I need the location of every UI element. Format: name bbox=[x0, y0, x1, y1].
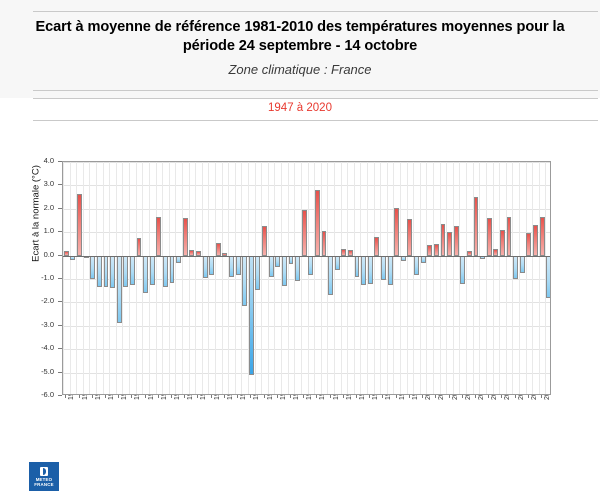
temperature-anomaly-chart: Ecart à la normale (°C) 4.03.02.01.00.0-… bbox=[0, 130, 600, 450]
bar-1972 bbox=[229, 256, 234, 277]
bar-1962 bbox=[163, 256, 168, 288]
bar-1964 bbox=[176, 256, 181, 263]
gridline-vertical bbox=[446, 162, 447, 394]
x-axis-tick-mark bbox=[211, 395, 212, 398]
bar-1958 bbox=[137, 238, 142, 256]
gridline-vertical bbox=[321, 162, 322, 394]
y-axis-tick-label: -5.0 bbox=[28, 368, 54, 376]
gridline-vertical bbox=[208, 162, 209, 394]
page-title: Ecart à moyenne de référence 1981-2010 d… bbox=[30, 18, 570, 56]
logo-text-line2: FRANCE bbox=[34, 482, 54, 487]
meteo-france-logo-icon bbox=[40, 467, 48, 476]
bar-1973 bbox=[236, 256, 241, 276]
gridline-vertical bbox=[156, 162, 157, 394]
bar-2006 bbox=[454, 226, 459, 255]
bar-1955 bbox=[117, 256, 122, 324]
y-axis-tick-label: -2.0 bbox=[28, 297, 54, 305]
bar-1961 bbox=[156, 217, 161, 256]
gridline-vertical bbox=[420, 162, 421, 394]
gridline-vertical bbox=[222, 162, 223, 394]
gridline-vertical bbox=[136, 162, 137, 394]
gridline-vertical bbox=[83, 162, 84, 394]
y-axis-tick-label: 2.0 bbox=[28, 204, 54, 212]
bar-1959 bbox=[143, 256, 148, 293]
header-block: Ecart à moyenne de référence 1981-2010 d… bbox=[0, 0, 600, 98]
gridline-vertical bbox=[215, 162, 216, 394]
bar-1983 bbox=[302, 210, 307, 256]
bar-2005 bbox=[447, 232, 452, 255]
x-axis-tick-mark bbox=[343, 395, 344, 398]
bar-1981 bbox=[289, 256, 294, 264]
x-axis-tick-mark bbox=[396, 395, 397, 398]
bar-2001 bbox=[421, 256, 426, 263]
x-axis-tick-mark bbox=[158, 395, 159, 398]
gridline-vertical bbox=[228, 162, 229, 394]
x-axis-tick-mark bbox=[330, 395, 331, 398]
bar-2003 bbox=[434, 244, 439, 256]
bar-1989 bbox=[341, 249, 346, 256]
x-axis-tick-mark bbox=[250, 395, 251, 398]
gridline-vertical bbox=[453, 162, 454, 394]
page-subtitle: Zone climatique : France bbox=[30, 62, 570, 77]
period-divider-bottom bbox=[33, 120, 598, 121]
x-axis-tick-mark bbox=[131, 395, 132, 398]
period-divider-top bbox=[33, 98, 598, 99]
gridline-vertical bbox=[308, 162, 309, 394]
bar-2009 bbox=[474, 197, 479, 256]
gridline-vertical bbox=[274, 162, 275, 394]
gridline-vertical bbox=[195, 162, 196, 394]
x-axis-tick-mark bbox=[409, 395, 410, 398]
meteo-france-logo: METEO FRANCE bbox=[29, 462, 59, 491]
gridline-vertical bbox=[532, 162, 533, 394]
x-axis-tick-mark bbox=[475, 395, 476, 398]
bar-1984 bbox=[308, 256, 313, 276]
y-axis-tick-label: -6.0 bbox=[28, 391, 54, 399]
bar-1949 bbox=[77, 194, 82, 256]
bar-1965 bbox=[183, 218, 188, 255]
gridline-vertical bbox=[493, 162, 494, 394]
gridline-vertical bbox=[466, 162, 467, 394]
gridline-vertical bbox=[70, 162, 71, 394]
bar-1986 bbox=[322, 231, 327, 256]
x-axis-tick-mark bbox=[65, 395, 66, 398]
bar-1952 bbox=[97, 256, 102, 288]
bar-1997 bbox=[394, 208, 399, 256]
gridline-vertical bbox=[433, 162, 434, 394]
gridline-vertical bbox=[486, 162, 487, 394]
bar-2011 bbox=[487, 218, 492, 255]
x-axis-tick-mark bbox=[369, 395, 370, 398]
gridline-vertical bbox=[440, 162, 441, 394]
gridline-vertical bbox=[519, 162, 520, 394]
gridline-vertical bbox=[426, 162, 427, 394]
bar-1988 bbox=[335, 256, 340, 270]
bar-1991 bbox=[355, 256, 360, 277]
x-axis-tick-mark bbox=[515, 395, 516, 398]
x-axis-tick-mark bbox=[435, 395, 436, 398]
bar-2012 bbox=[493, 249, 498, 256]
x-axis-tick-mark bbox=[541, 395, 542, 398]
bar-1977 bbox=[262, 226, 267, 255]
bar-1980 bbox=[282, 256, 287, 286]
plot-area bbox=[62, 161, 551, 395]
gridline-vertical bbox=[202, 162, 203, 394]
x-axis-tick-mark bbox=[105, 395, 106, 398]
x-axis-tick-mark bbox=[382, 395, 383, 398]
y-axis-tick-mark bbox=[58, 395, 62, 396]
gridline-vertical bbox=[268, 162, 269, 394]
x-axis-tick-mark bbox=[462, 395, 463, 398]
bar-1953 bbox=[104, 256, 109, 288]
x-axis-tick-mark bbox=[422, 395, 423, 398]
gridline-vertical bbox=[354, 162, 355, 394]
x-axis-tick-mark bbox=[277, 395, 278, 398]
gridline-vertical bbox=[334, 162, 335, 394]
bar-1970 bbox=[216, 243, 221, 256]
bar-2018 bbox=[533, 225, 538, 255]
period-range-label: 1947 à 2020 bbox=[0, 102, 600, 114]
bar-1974 bbox=[242, 256, 247, 306]
x-axis-tick-mark bbox=[224, 395, 225, 398]
y-axis-tick-label: -4.0 bbox=[28, 344, 54, 352]
x-axis-tick-mark bbox=[145, 395, 146, 398]
x-axis-tick-mark bbox=[79, 395, 80, 398]
x-axis-tick-mark bbox=[118, 395, 119, 398]
gridline-vertical bbox=[506, 162, 507, 394]
gridline-vertical bbox=[374, 162, 375, 394]
x-axis-tick-mark bbox=[184, 395, 185, 398]
bar-2000 bbox=[414, 256, 419, 276]
y-axis-tick-label: 4.0 bbox=[28, 157, 54, 165]
gridline-vertical bbox=[189, 162, 190, 394]
x-axis-tick-mark bbox=[264, 395, 265, 398]
gridline-vertical bbox=[235, 162, 236, 394]
bar-2004 bbox=[441, 224, 446, 256]
header-divider-top bbox=[33, 11, 598, 12]
gridline-vertical bbox=[539, 162, 540, 394]
bar-2015 bbox=[513, 256, 518, 279]
x-axis-tick-mark bbox=[290, 395, 291, 398]
x-axis-tick-mark bbox=[356, 395, 357, 398]
bar-1968 bbox=[203, 256, 208, 278]
gridline-vertical bbox=[479, 162, 480, 394]
bar-1957 bbox=[130, 256, 135, 285]
y-axis-tick-label: 3.0 bbox=[28, 180, 54, 188]
x-axis-tick-mark bbox=[92, 395, 93, 398]
bar-1960 bbox=[150, 256, 155, 285]
x-axis-tick-mark bbox=[303, 395, 304, 398]
x-axis-tick-mark bbox=[449, 395, 450, 398]
bar-2002 bbox=[427, 245, 432, 256]
bar-1956 bbox=[123, 256, 128, 288]
x-axis-tick-mark bbox=[237, 395, 238, 398]
bar-1951 bbox=[90, 256, 95, 279]
zero-reference-line bbox=[63, 256, 550, 257]
y-axis-tick-label: -3.0 bbox=[28, 321, 54, 329]
bar-1993 bbox=[368, 256, 373, 284]
y-axis-tick-label: -1.0 bbox=[28, 274, 54, 282]
x-axis-tick-mark bbox=[488, 395, 489, 398]
y-axis-tick-label: 1.0 bbox=[28, 227, 54, 235]
bar-1994 bbox=[374, 237, 379, 256]
bar-1969 bbox=[209, 256, 214, 276]
period-band: 1947 à 2020 bbox=[0, 98, 600, 123]
bar-1996 bbox=[388, 256, 393, 285]
gridline-vertical bbox=[261, 162, 262, 394]
bar-2014 bbox=[507, 217, 512, 256]
x-axis-tick-mark bbox=[501, 395, 502, 398]
x-axis-tick-mark bbox=[316, 395, 317, 398]
gridline-vertical bbox=[182, 162, 183, 394]
gridline-vertical bbox=[341, 162, 342, 394]
bar-2007 bbox=[460, 256, 465, 284]
bar-1992 bbox=[361, 256, 366, 285]
gridline-vertical bbox=[400, 162, 401, 394]
bar-2017 bbox=[526, 233, 531, 255]
bar-1987 bbox=[328, 256, 333, 296]
bar-1975 bbox=[249, 256, 254, 375]
bar-2016 bbox=[520, 256, 525, 274]
bar-1999 bbox=[407, 219, 412, 255]
bar-1954 bbox=[110, 256, 115, 289]
gridline-vertical bbox=[393, 162, 394, 394]
x-axis-tick-mark bbox=[171, 395, 172, 398]
bar-2019 bbox=[540, 217, 545, 256]
bar-1985 bbox=[315, 190, 320, 256]
y-axis-tick-label: 0.0 bbox=[28, 251, 54, 259]
x-axis-tick-mark bbox=[197, 395, 198, 398]
bar-1979 bbox=[275, 256, 280, 268]
gridline-vertical bbox=[175, 162, 176, 394]
gridline-vertical bbox=[526, 162, 527, 394]
gridline-vertical bbox=[288, 162, 289, 394]
bar-1963 bbox=[170, 256, 175, 283]
gridline-vertical bbox=[301, 162, 302, 394]
bar-2020 bbox=[546, 256, 551, 298]
gridline-vertical bbox=[63, 162, 64, 394]
gridline-vertical bbox=[407, 162, 408, 394]
gridline-vertical bbox=[347, 162, 348, 394]
bar-1978 bbox=[269, 256, 274, 277]
bar-1995 bbox=[381, 256, 386, 281]
header-divider-bottom bbox=[33, 90, 598, 91]
x-axis-tick-mark bbox=[528, 395, 529, 398]
gridline-vertical bbox=[413, 162, 414, 394]
bar-1982 bbox=[295, 256, 300, 282]
gridline-vertical bbox=[499, 162, 500, 394]
bar-2013 bbox=[500, 230, 505, 256]
bar-1976 bbox=[255, 256, 260, 290]
